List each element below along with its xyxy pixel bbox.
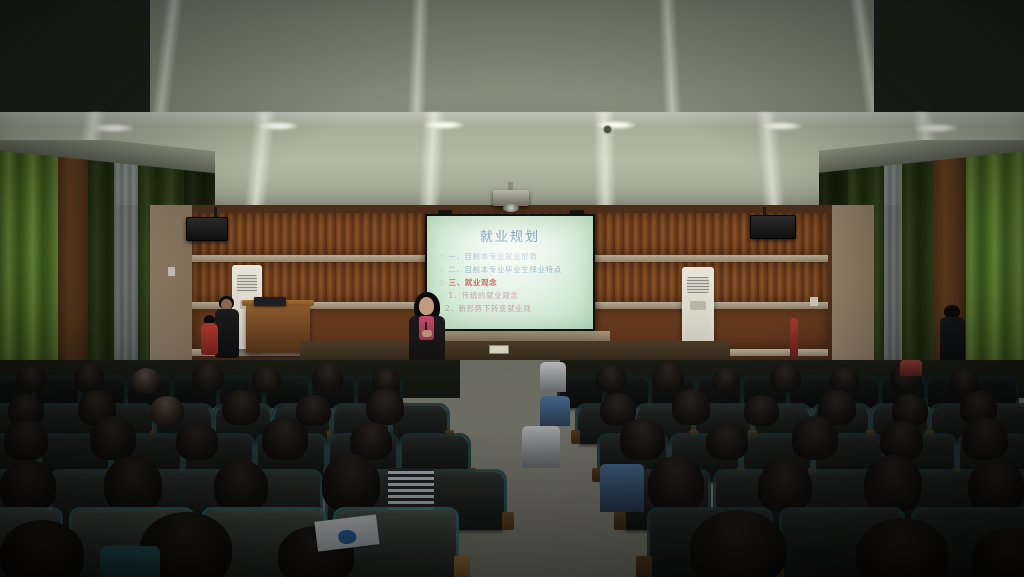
audience-head <box>962 417 1008 460</box>
projection-screen: 就业规划 ◇ 一、目前本专业就业形势 ◇ 二、目前本专业毕业生择业特点 ◇ 三、… <box>427 216 593 329</box>
bullet-text: 2、新形势下转变就业观 <box>445 304 531 313</box>
audience-bag <box>100 546 160 577</box>
audience-head <box>758 460 812 512</box>
audience-clothing <box>540 362 566 392</box>
ceiling-light <box>424 121 464 129</box>
audience-clothing <box>522 426 560 468</box>
audience-area <box>0 360 1024 577</box>
audience-head <box>222 390 260 425</box>
presenter-head <box>419 297 434 315</box>
audience-clothing <box>600 464 644 512</box>
lecture-hall-photo: 就业规划 ◇ 一、目前本专业就业形势 ◇ 二、目前本专业毕业生择业特点 ◇ 三、… <box>0 0 1024 577</box>
projector-lens-icon <box>503 204 519 212</box>
audience-head <box>880 421 923 460</box>
slide-bullet: ◇ 三、就业观念 <box>439 276 585 289</box>
ceiling-light <box>258 122 298 130</box>
audience-head <box>322 454 380 512</box>
person-body <box>940 317 965 363</box>
audience-head <box>652 362 684 392</box>
audience-head <box>864 455 922 512</box>
bullet-text: 二、目前本专业毕业生择业特点 <box>448 265 561 274</box>
presenter-hand <box>422 330 432 337</box>
slide-title: 就业规划 <box>427 226 593 245</box>
audience-head <box>132 368 160 393</box>
curtain-left-outer <box>0 140 60 380</box>
bullet-text: 1、传统的就业观念 <box>448 291 518 300</box>
person-with-red-item <box>790 312 804 358</box>
standing-person-right <box>938 305 968 363</box>
red-item <box>790 318 798 358</box>
slide-bullet: ◇ 1、传统的就业观念 <box>439 289 585 302</box>
audience-head <box>792 416 838 460</box>
power-outlet <box>810 297 818 306</box>
audience-clothing <box>540 396 570 426</box>
curtain-right-mid <box>900 155 934 380</box>
audience-head-foreground <box>0 520 84 577</box>
audience-head <box>104 456 162 512</box>
audience-head <box>4 420 48 460</box>
light-switch[interactable] <box>168 267 175 276</box>
slide-bullet-list: ◇ 一、目前本专业就业形势 ◇ 二、目前本专业毕业生择业特点 ◇ 三、就业观念 … <box>439 250 585 315</box>
bullet-marker-icon: ◇ <box>439 265 445 274</box>
laptop <box>254 297 286 306</box>
slide-bullet: ◇ 二、目前本专业毕业生择业特点 <box>439 263 585 276</box>
audience-head <box>596 365 626 392</box>
audience-head <box>74 364 104 392</box>
child-in-red <box>200 315 220 355</box>
curtain-right-outer <box>962 140 1024 380</box>
audience-head <box>312 363 343 392</box>
audience-head <box>150 396 184 426</box>
audience-head <box>16 366 46 392</box>
audience-head <box>366 389 404 425</box>
slide-bullet: ◇ 一、目前本专业就业形势 <box>439 250 585 263</box>
audience-head <box>620 418 665 460</box>
audience-head-foreground <box>690 510 786 577</box>
speaker-right <box>750 215 796 239</box>
audience-head <box>192 362 224 392</box>
audience-head <box>706 422 748 460</box>
audience-head <box>712 368 740 393</box>
presenter <box>405 292 449 364</box>
paper-graphic <box>338 529 358 545</box>
audience-head <box>648 456 704 512</box>
sheer-curtain-right <box>882 161 902 380</box>
air-conditioner-right <box>682 267 714 349</box>
ac-control-panel <box>690 301 705 309</box>
audience-head <box>252 367 281 393</box>
audience-clothing <box>900 360 922 376</box>
speaker-left <box>186 217 228 241</box>
audience-head <box>262 417 308 460</box>
stage-ledge <box>430 331 610 341</box>
bullet-text: 一、目前本专业就业形势 <box>448 252 537 261</box>
bullet-text: 三、就业观念 <box>449 278 498 287</box>
audience-head <box>744 395 779 426</box>
audience-head <box>214 460 268 512</box>
audience-head <box>90 416 136 460</box>
wall-corner-right <box>832 205 874 380</box>
audience-head <box>770 364 801 392</box>
sheer-curtain-left <box>114 161 140 380</box>
bullet-marker-icon: ◇ <box>439 252 445 261</box>
ceiling-light <box>916 124 958 132</box>
audience-head <box>296 395 331 426</box>
smoke-detector-icon <box>604 126 611 133</box>
ac-grille <box>687 277 709 293</box>
wood-column-left <box>58 140 90 380</box>
audience-head <box>672 389 710 425</box>
audience-head <box>0 460 56 512</box>
slide-bullet: 2、新形势下转变就业观 <box>439 302 585 315</box>
audience-head <box>176 422 218 460</box>
ceiling-light <box>762 122 802 130</box>
wall-plaque <box>489 345 509 354</box>
ac-grille <box>237 275 257 292</box>
child-body <box>201 323 218 355</box>
ceiling-light <box>92 124 134 132</box>
curtain-left-mid <box>88 157 116 380</box>
projection-screen-frame: 就业规划 ◇ 一、目前本专业就业形势 ◇ 二、目前本专业毕业生择业特点 ◇ 三、… <box>425 214 595 331</box>
bullet-marker-icon: ◇ <box>439 278 445 287</box>
audience-clothing-striped <box>388 468 434 512</box>
ceiling-light <box>596 121 636 129</box>
audience-head <box>968 459 1024 512</box>
